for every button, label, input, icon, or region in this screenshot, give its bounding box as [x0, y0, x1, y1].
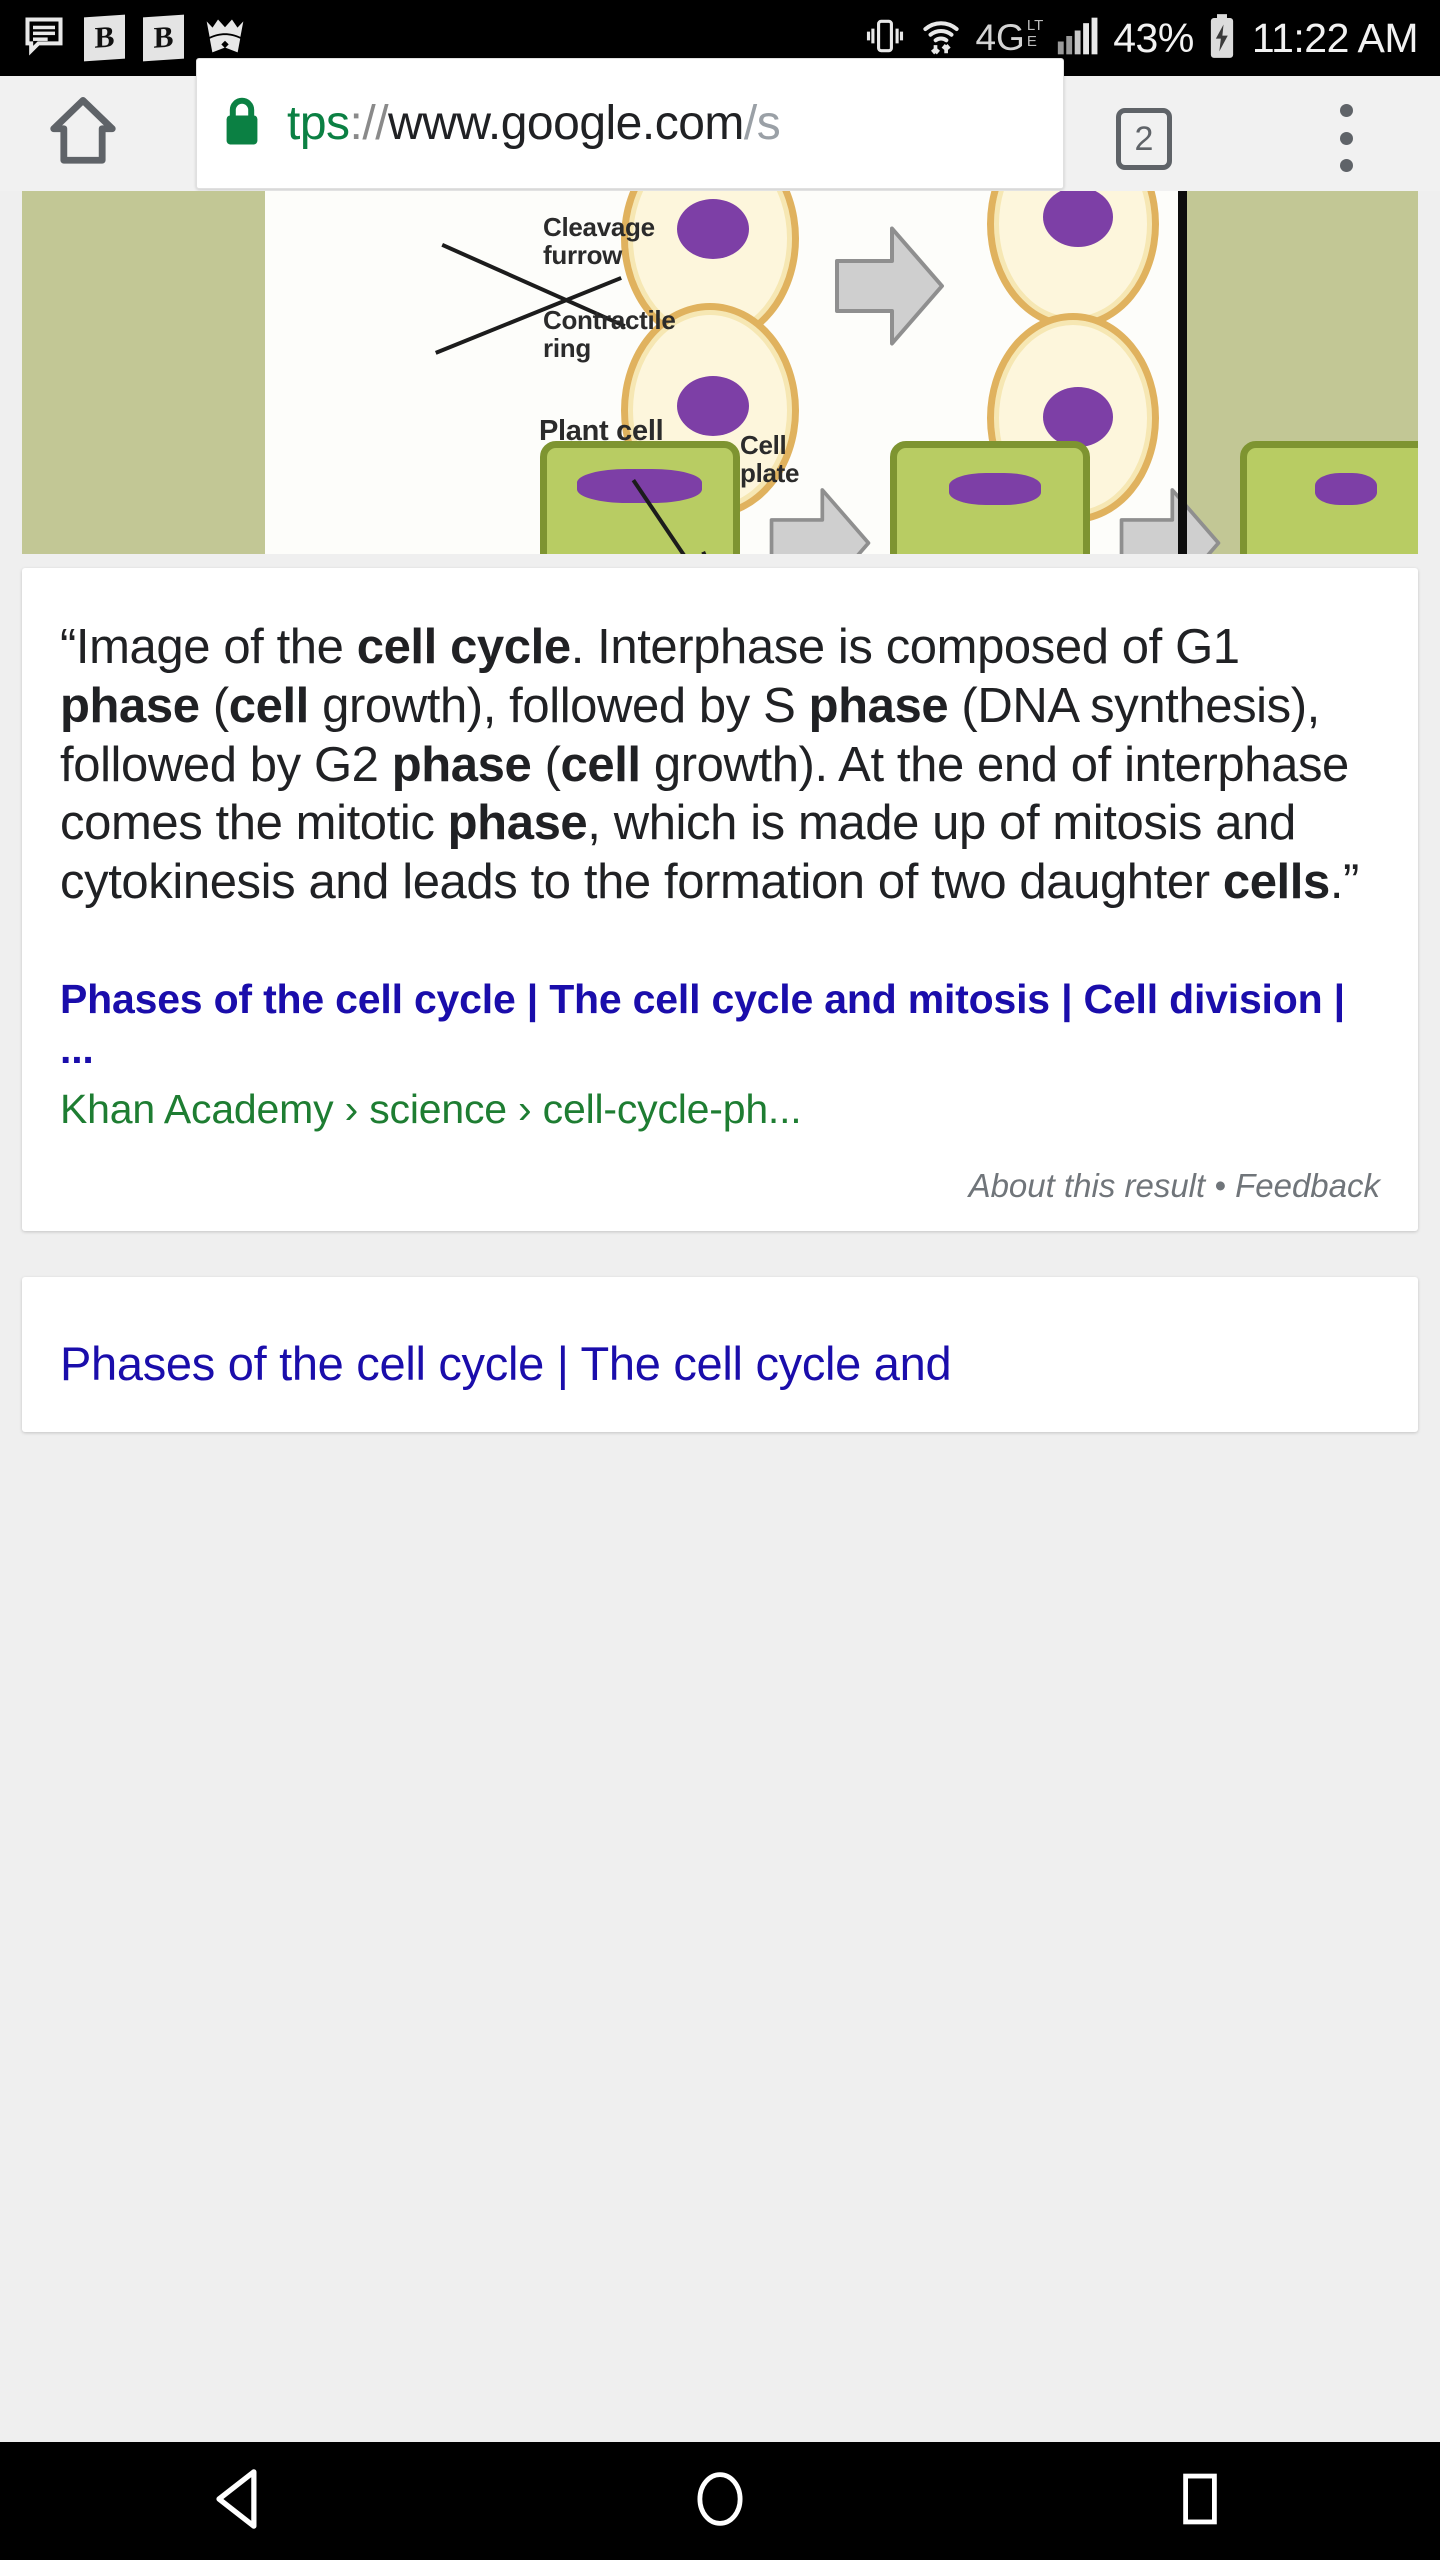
- snippet-text: “Image of the cell cycle. Interphase is …: [60, 618, 1380, 912]
- snippet-fragment: .”: [1330, 855, 1359, 909]
- snippet-bold-term: phase: [448, 796, 588, 850]
- battery-percent-label: 43%: [1113, 15, 1194, 62]
- url-bar[interactable]: tps://www.google.com/s: [196, 58, 1064, 189]
- url-scheme: tps: [287, 97, 350, 150]
- b-app-icon: B: [143, 15, 184, 62]
- nucleus: [677, 376, 749, 436]
- diagram-canvas: Cleavagefurrow Contractilering Plant cel…: [265, 191, 1178, 554]
- android-navigation-bar: [0, 2442, 1440, 2560]
- b-app-icon: B: [84, 15, 125, 62]
- result-url-breadcrumb: Khan Academy › science › cell-cycle-ph..…: [60, 1086, 1380, 1133]
- snippet-fragment: growth), followed by S: [309, 679, 809, 733]
- url-separator: ://: [350, 97, 389, 150]
- arrow-right-icon: [765, 483, 875, 554]
- nucleus: [677, 199, 749, 259]
- back-triangle-icon: [203, 2462, 277, 2541]
- network-type-label: 4G LTE: [975, 17, 1043, 59]
- nav-home-button[interactable]: [620, 2442, 820, 2560]
- snippet-bold-term: cell: [229, 679, 309, 733]
- snippet-fragment: (: [200, 679, 229, 733]
- snippet-fragment: (: [531, 738, 560, 792]
- label-contractile-ring: Contractilering: [543, 306, 676, 362]
- more-vertical-icon: [1340, 104, 1353, 117]
- snippet-bold-term: cell: [561, 738, 641, 792]
- label-cell-plate: Cellplate: [740, 431, 799, 487]
- next-search-result-card[interactable]: Phases of the cell cycle | The cell cycl…: [22, 1277, 1418, 1432]
- tab-switcher-button[interactable]: 2: [1116, 108, 1172, 170]
- tab-count-label: 2: [1135, 120, 1154, 159]
- message-icon: [22, 14, 66, 63]
- arrow-right-icon: [1115, 483, 1225, 554]
- plant-chromosomes: [1315, 473, 1377, 505]
- snippet-fragment: . Interphase is composed of G1: [571, 620, 1240, 674]
- snippet-bold-term: cells: [1223, 855, 1330, 909]
- signal-bars-icon: [1054, 14, 1102, 63]
- image-divider: [1178, 191, 1187, 554]
- wifi-icon: [918, 14, 964, 63]
- snippet-bold-term: cell cycle: [357, 620, 571, 674]
- page-content: Cleavagefurrow Contractilering Plant cel…: [0, 191, 1440, 2442]
- nucleus: [1043, 387, 1113, 447]
- crown-icon: [202, 14, 248, 63]
- more-vertical-icon: [1340, 159, 1353, 172]
- result-title-link[interactable]: Phases of the cell cycle | The cell cycl…: [60, 974, 1380, 1074]
- search-result-card[interactable]: “Image of the cell cycle. Interphase is …: [22, 568, 1418, 1231]
- more-vertical-icon: [1340, 132, 1353, 145]
- nav-back-button[interactable]: [140, 2442, 340, 2560]
- nav-recents-button[interactable]: [1100, 2442, 1300, 2560]
- next-result-title-link[interactable]: Phases of the cell cycle | The cell cycl…: [60, 1335, 1380, 1392]
- arrow-right-icon: [832, 221, 947, 356]
- home-icon: [44, 92, 122, 175]
- result-image[interactable]: Cleavagefurrow Contractilering Plant cel…: [22, 191, 1418, 554]
- plant-chromosomes: [949, 473, 1041, 505]
- snippet-bold-term: phase: [392, 738, 532, 792]
- snippet-bold-term: phase: [809, 679, 949, 733]
- status-bar-system-icons: 4G LTE 43% 11:22 AM: [863, 13, 1418, 64]
- vibrate-icon: [863, 14, 907, 63]
- home-circle-icon: [686, 2465, 754, 2538]
- url-path: /s: [744, 97, 780, 150]
- browser-toolbar: tps://www.google.com/s 2: [0, 76, 1440, 191]
- url-host: www.google.com: [388, 97, 744, 150]
- overflow-menu-button[interactable]: [1322, 98, 1370, 178]
- battery-charging-icon: [1205, 13, 1239, 64]
- lock-icon: [219, 93, 265, 154]
- label-plant-cell: Plant cell: [539, 416, 663, 447]
- snippet-bold-term: phase: [60, 679, 200, 733]
- label-cleavage-furrow: Cleavagefurrow: [543, 213, 655, 269]
- snippet-fragment: “Image of the: [60, 620, 357, 674]
- about-this-result[interactable]: About this result • Feedback: [60, 1167, 1380, 1205]
- home-button[interactable]: [28, 92, 138, 175]
- status-bar-clock: 11:22 AM: [1252, 15, 1418, 62]
- status-bar-notifications: B B: [22, 14, 248, 63]
- url-text: tps://www.google.com/s: [287, 96, 780, 151]
- recents-square-icon: [1168, 2467, 1232, 2536]
